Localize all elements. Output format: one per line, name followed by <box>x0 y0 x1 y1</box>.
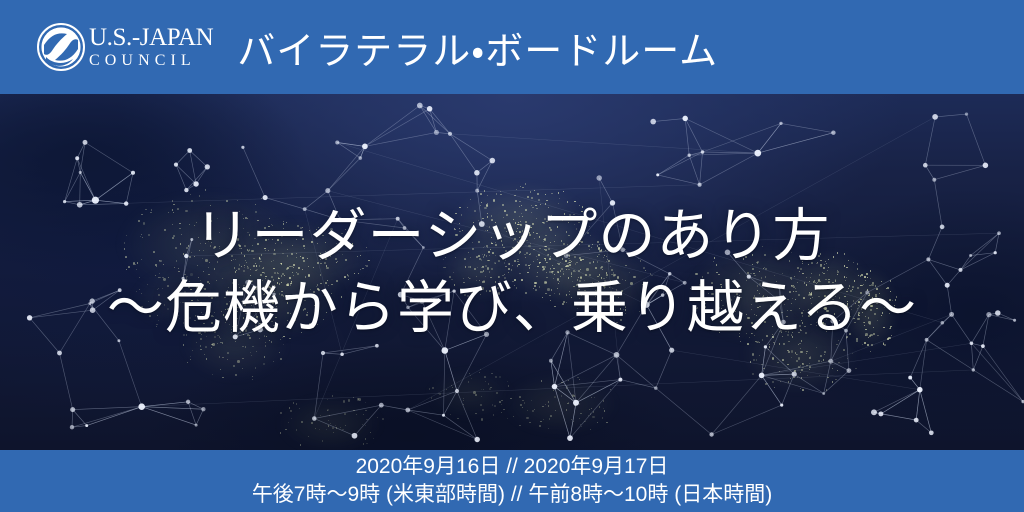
header-title: バイラテラル・ボードルーム <box>237 20 718 75</box>
event-dates: 2020年9月16日 // 2020年9月17日 <box>356 453 669 481</box>
footer-bar: 2020年9月16日 // 2020年9月17日 午後7時〜9時 (米東部時間)… <box>0 450 1024 512</box>
logo-line-1: U.S.-JAPAN <box>89 25 213 50</box>
council-wordmark: U.S.-JAPAN COUNCIL <box>89 25 213 69</box>
us-japan-council-logo[interactable]: U.S.-JAPAN COUNCIL <box>36 18 213 76</box>
council-emblem-icon <box>36 22 86 72</box>
network-constellation-overlay <box>0 94 1024 450</box>
logo-line-2: COUNCIL <box>89 53 213 69</box>
hero-background-image <box>0 94 1024 450</box>
event-times: 午後7時〜9時 (米東部時間) // 午前8時〜10時 (日本時間) <box>252 481 772 509</box>
event-banner: リーダーシップのあり方 〜危機から学び、乗り越える〜 U.S.-JAPAN CO… <box>0 0 1024 512</box>
header-bar: U.S.-JAPAN COUNCIL バイラテラル・ボードルーム <box>0 0 1024 94</box>
